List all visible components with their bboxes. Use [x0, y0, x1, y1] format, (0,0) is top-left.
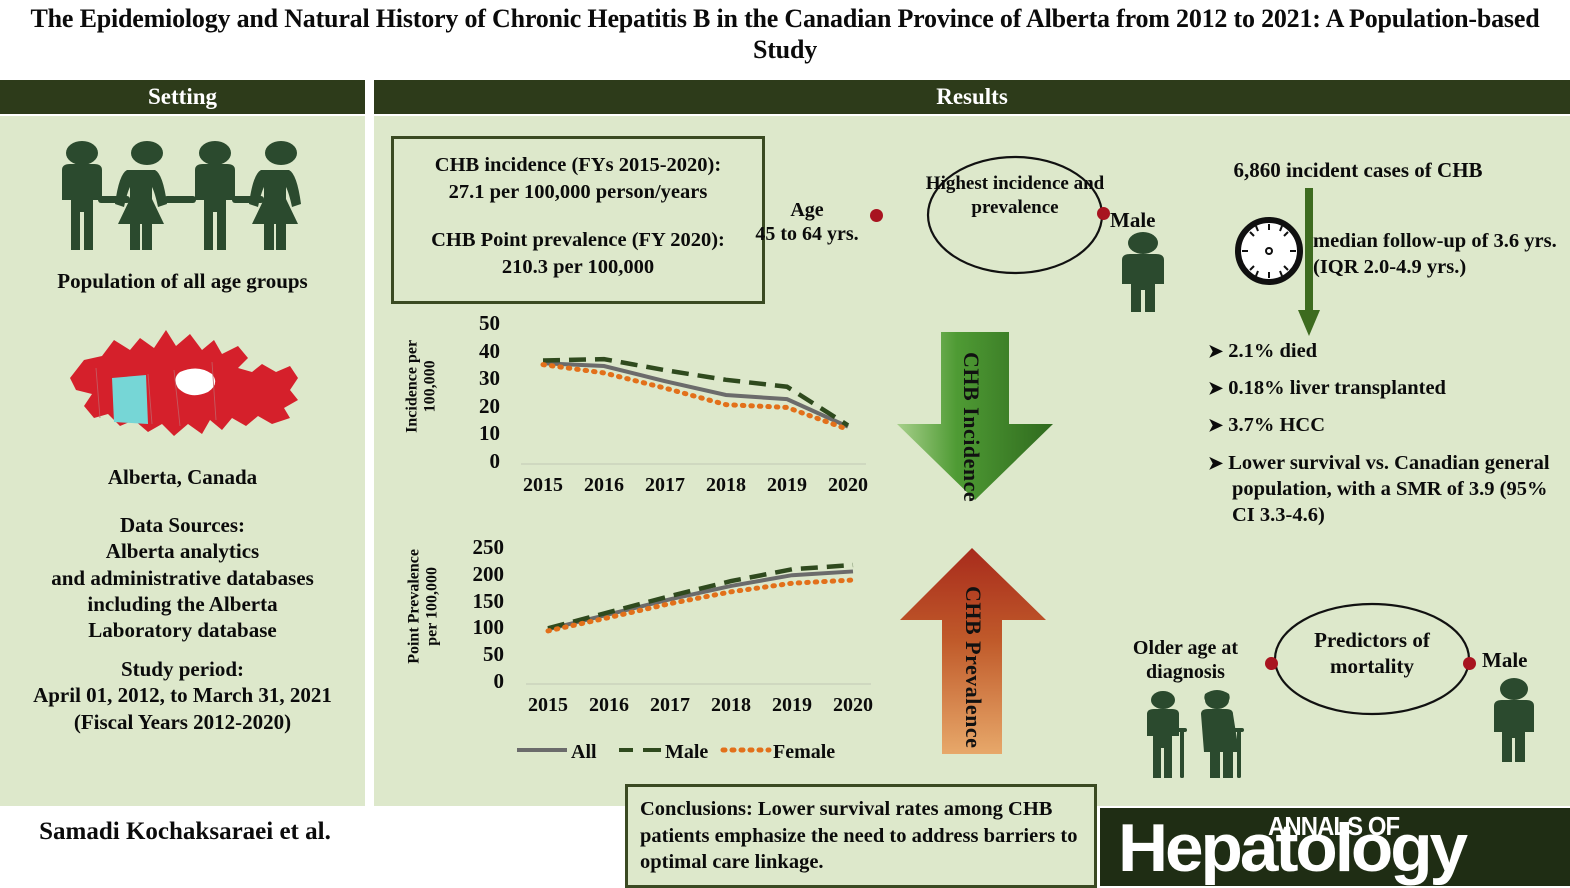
list-item-label: 2.1% died	[1228, 340, 1317, 362]
list-item: ➤ 2.1% died	[1208, 338, 1570, 364]
svg-text:Female: Female	[773, 741, 835, 763]
svg-text:Male: Male	[665, 741, 708, 763]
conclusions-text: Conclusions: Lower survival rates among …	[628, 787, 1094, 876]
older-age-label-line1: Older age at	[1118, 636, 1253, 660]
results-panel-header: Results	[374, 80, 1570, 114]
study-period-text: Study period: April 01, 2012, to March 3…	[10, 656, 355, 735]
connector-dot-right-incidence	[1097, 207, 1110, 220]
median-followup-label: median follow-up of 3.6 yrs. (IQR 2.0-4.…	[1313, 228, 1570, 280]
authors-label: Samadi Kochaksaraei et al.	[10, 818, 360, 846]
incidence-stat-line1: CHB incidence (FYs 2015-2020):	[394, 152, 762, 179]
list-item-label: Lower survival vs. Canadian general popu…	[1228, 452, 1549, 526]
incidence-line-chart: Incidence per 100,000 01020304050 201520…	[398, 312, 893, 502]
bullet-arrow-icon: ➤	[1208, 415, 1223, 435]
list-item-label: 3.7% HCC	[1228, 414, 1325, 436]
journal-logo: Hepatology ANNALS OF	[1100, 808, 1570, 886]
map-caption: Alberta, Canada	[10, 464, 355, 490]
age-group-label-line1: Age	[742, 198, 872, 222]
male-label-incidence: Male	[1110, 208, 1155, 233]
journal-logo-annals-of: ANNALS OF	[1268, 811, 1399, 842]
outcomes-bullet-list: ➤ 2.1% died ➤ 0.18% liver transplanted ➤…	[1208, 338, 1570, 539]
age-group-label-line2: 45 to 64 yrs.	[742, 222, 872, 246]
prevalence-stat-line2: 210.3 per 100,000	[394, 254, 762, 281]
list-item-label: 0.18% liver transplanted	[1228, 377, 1446, 399]
setting-panel-header: Setting	[0, 80, 365, 114]
chb-incidence-arrow-label: CHB Incidence	[960, 352, 983, 502]
male-label-predictors: Male	[1482, 648, 1527, 673]
predictors-label: Predictors of mortality	[1272, 628, 1472, 679]
list-item: ➤ 0.18% liver transplanted	[1208, 375, 1570, 401]
data-sources-text: Data Sources: Alberta analytics and admi…	[10, 512, 355, 643]
population-caption: Population of all age groups	[10, 268, 355, 294]
chb-prevalence-arrow-label: CHB Prevalence	[962, 586, 985, 748]
prevalence-stat-line1: CHB Point prevalence (FY 2020):	[394, 227, 762, 254]
male-figure-icon-predictors	[1484, 678, 1544, 764]
conclusions-box: Conclusions: Lower survival rates among …	[625, 784, 1097, 888]
connector-dot-left-predictors	[1265, 657, 1278, 670]
prevalence-line-chart: Point Prevalence per 100,000 05010015020…	[398, 532, 893, 722]
elderly-couple-icon	[1133, 690, 1255, 780]
age-group-label: Age 45 to 64 yrs.	[742, 198, 872, 247]
male-figure-icon	[1112, 232, 1174, 312]
chart-legend: All Male Female	[515, 737, 845, 763]
highest-incidence-label: Highest incidence and prevalence	[925, 172, 1105, 219]
key-statistics-box: CHB incidence (FYs 2015-2020): 27.1 per …	[391, 136, 765, 304]
list-item: ➤ Lower survival vs. Canadian general po…	[1208, 450, 1570, 529]
incidence-stat-line2: 27.1 per 100,000 person/years	[394, 179, 762, 206]
connector-dot-right-predictors	[1463, 657, 1476, 670]
incident-cases-label: 6,860 incident cases of CHB	[1208, 158, 1508, 183]
people-group-icon	[50, 140, 315, 255]
svg-text:All: All	[571, 741, 597, 763]
clock-icon	[1233, 215, 1305, 287]
list-item: ➤ 3.7% HCC	[1208, 412, 1570, 438]
older-age-label: Older age at diagnosis	[1118, 636, 1253, 685]
bullet-arrow-icon: ➤	[1208, 341, 1223, 361]
bullet-arrow-icon: ➤	[1208, 453, 1223, 473]
older-age-label-line2: diagnosis	[1118, 660, 1253, 684]
canada-map-image	[62, 320, 307, 450]
page-title: The Epidemiology and Natural History of …	[0, 4, 1570, 65]
bullet-arrow-icon: ➤	[1208, 378, 1223, 398]
connector-dot-left-incidence	[870, 209, 883, 222]
